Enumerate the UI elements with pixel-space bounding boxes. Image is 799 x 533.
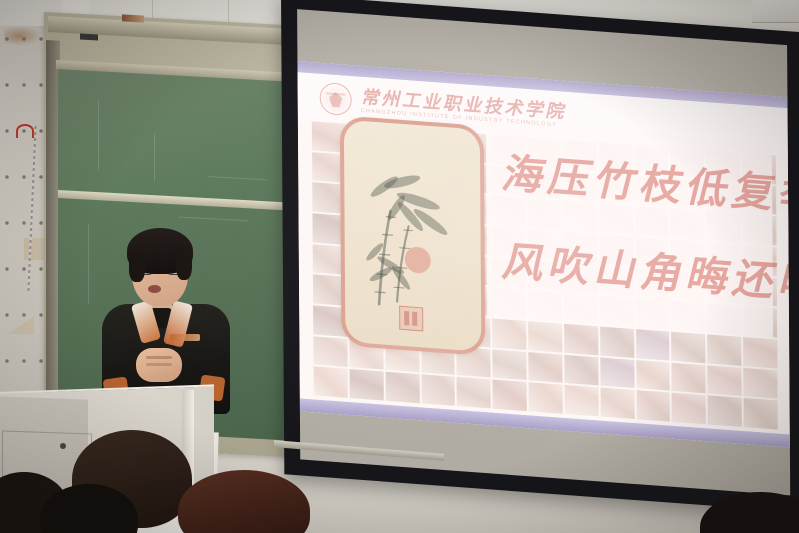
calligraphy-line-2: 风吹山角晦还明。 <box>501 227 790 314</box>
collage-photo <box>672 393 706 424</box>
collage-photo <box>349 369 383 400</box>
collage-photo <box>708 396 742 427</box>
chalk-eraser <box>80 34 98 41</box>
collage-photo <box>493 349 527 380</box>
panel-stain <box>4 26 42 46</box>
collage-photo <box>385 372 419 403</box>
collage-photo <box>636 360 670 391</box>
calligraphy-line-1: 海压竹枝低复举， <box>500 139 790 226</box>
collage-photo <box>564 354 598 385</box>
presenter-hands <box>136 348 182 382</box>
cord-hook-icon <box>16 124 34 138</box>
college-crest-icon <box>320 82 352 116</box>
collage-photo <box>564 324 598 355</box>
collage-photo <box>708 365 742 396</box>
collage-photo <box>672 332 706 363</box>
collage-photo <box>313 336 347 367</box>
collage-photo <box>600 388 634 419</box>
collage-photo <box>744 368 778 399</box>
lectern-knob <box>60 443 66 449</box>
classroom-presentation-photo: 常州工业职业技术学院 CHANGZHOU INSTITUTE OF INDUST… <box>0 0 799 533</box>
projection-screen: 常州工业职业技术学院 CHANGZHOU INSTITUTE OF INDUST… <box>281 0 799 512</box>
collage-photo <box>492 319 526 350</box>
ceiling-fixture <box>752 0 799 23</box>
collage-photo <box>744 398 778 429</box>
presenter-mouth <box>148 285 161 293</box>
collage-photo <box>636 329 670 360</box>
slide-content: 常州工业职业技术学院 CHANGZHOU INSTITUTE OF INDUST… <box>298 72 790 434</box>
collage-photo <box>493 380 527 411</box>
collage-photo <box>636 390 670 421</box>
chalk-tray-item <box>122 14 144 22</box>
collage-photo <box>421 375 455 406</box>
panel-patch <box>24 238 44 260</box>
projected-slide: 常州工业职业技术学院 CHANGZHOU INSTITUTE OF INDUST… <box>297 61 789 447</box>
collage-photo <box>528 352 562 383</box>
presenter-hair-side <box>176 248 192 280</box>
collage-photo <box>707 334 741 365</box>
collage-photo <box>672 362 706 393</box>
jacket-chest-logo <box>170 334 200 341</box>
artist-seal-stamp <box>399 306 423 332</box>
calligraphy-plate: 海压竹枝低复举， 风吹山角晦还明。 <box>486 122 773 339</box>
screen-surface: 常州工业职业技术学院 CHANGZHOU INSTITUTE OF INDUST… <box>297 9 790 495</box>
collage-photo <box>314 367 348 398</box>
collage-photo <box>600 357 634 388</box>
collage-photo <box>457 377 491 408</box>
collage-photo <box>565 385 599 416</box>
collage-photo <box>600 326 634 357</box>
collage-photo <box>743 337 777 368</box>
ink-bamboo-painting <box>340 115 486 356</box>
collage-photo <box>529 383 563 414</box>
collage-photo <box>528 321 562 352</box>
